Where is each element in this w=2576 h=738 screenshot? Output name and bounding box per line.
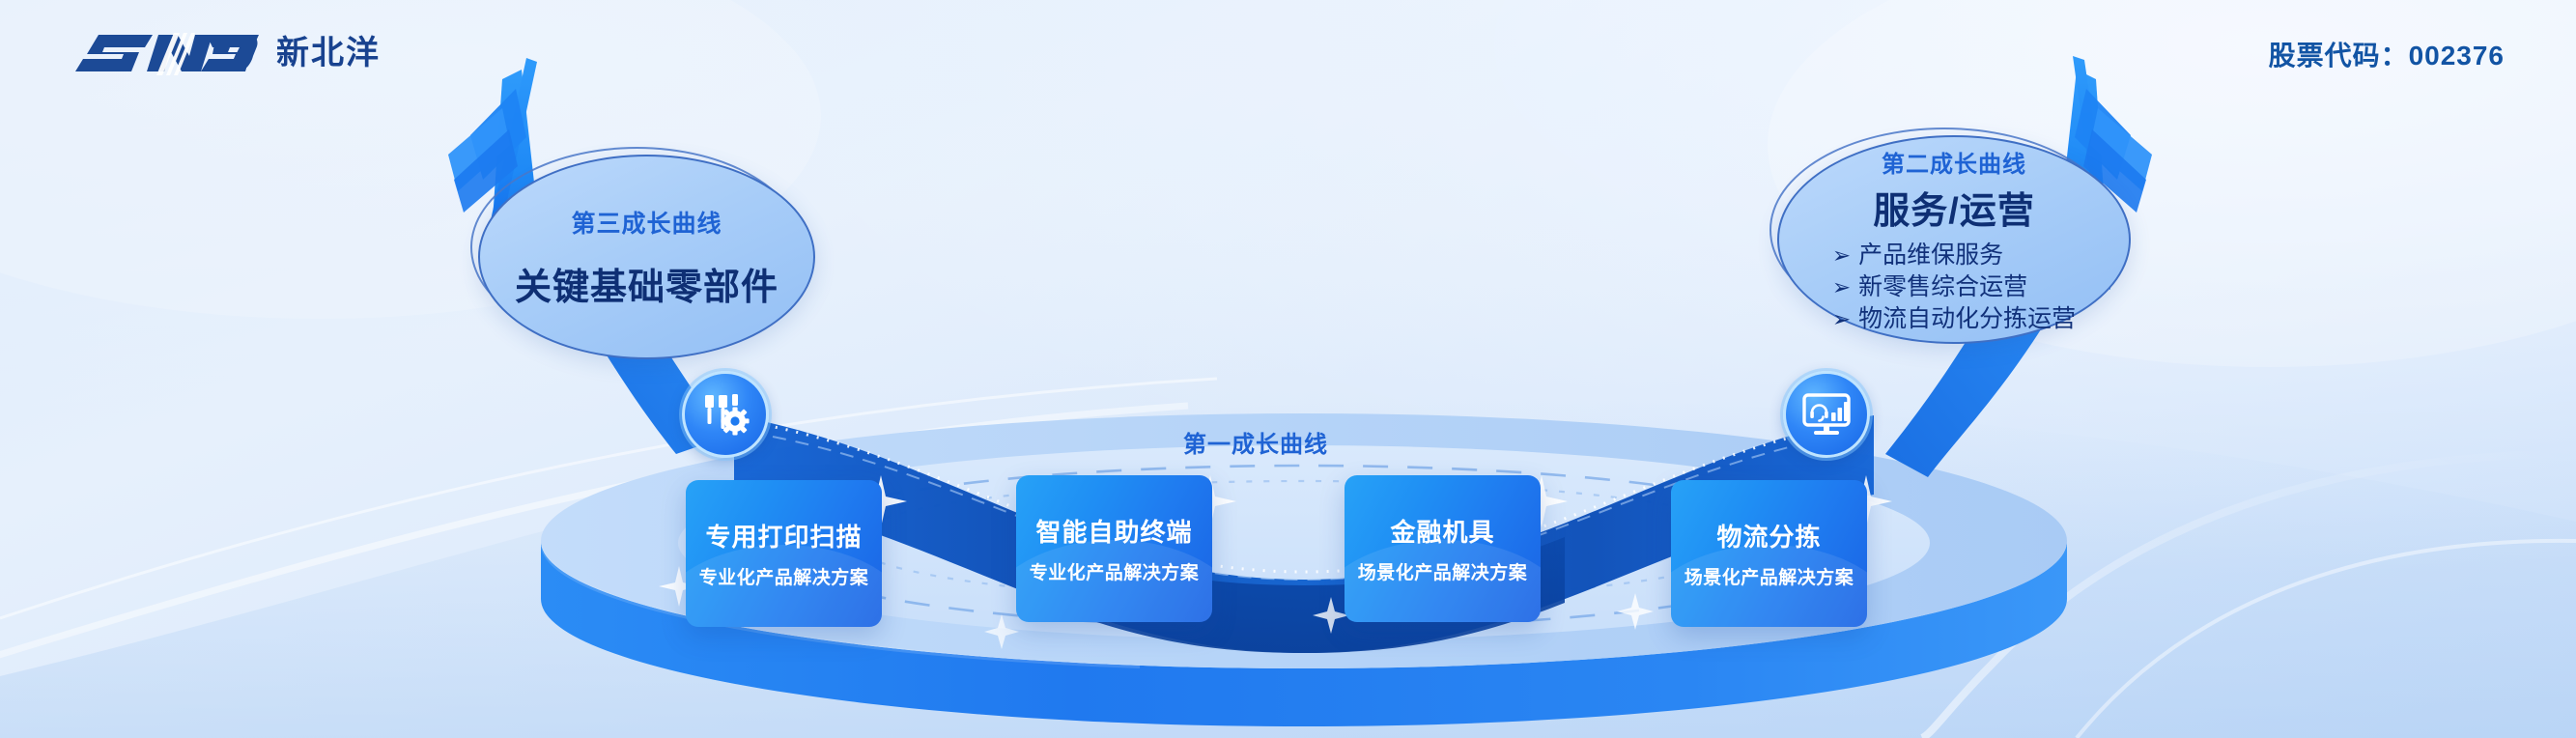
card-subtitle: 专业化产品解决方案 bbox=[699, 563, 869, 589]
monitor-headset-chart-glyph bbox=[1801, 389, 1852, 440]
brand-logo: 新北洋 bbox=[70, 27, 381, 79]
product-card-financial-equipment[interactable]: 金融机具 场景化产品解决方案 bbox=[1345, 475, 1541, 622]
background-decoration bbox=[0, 0, 2576, 738]
monitor-headset-chart-icon[interactable] bbox=[1783, 371, 1870, 458]
sliders-gear-icon[interactable] bbox=[682, 371, 769, 458]
third-curve-bubble[interactable]: 第三成长曲线 关键基础零部件 bbox=[478, 155, 815, 359]
list-item-label: 物流自动化分拣运营 bbox=[1858, 303, 2076, 335]
first-curve-label: 第一成长曲线 bbox=[1183, 425, 1328, 459]
arrow-right-icon: ➢ bbox=[1832, 308, 1851, 330]
second-curve-bullet-list: ➢ 产品维保服务 ➢ 新零售综合运营 ➢ 物流自动化分拣运营 bbox=[1832, 240, 2076, 335]
arrow-right-icon: ➢ bbox=[1832, 244, 1851, 267]
card-title: 智能自助终端 bbox=[1035, 513, 1192, 549]
card-subtitle: 场景化产品解决方案 bbox=[1358, 558, 1528, 584]
sliders-gear-glyph bbox=[700, 389, 750, 440]
list-item-label: 产品维保服务 bbox=[1858, 240, 2003, 271]
third-curve-headline: 关键基础零部件 bbox=[515, 257, 778, 310]
card-subtitle: 专业化产品解决方案 bbox=[1030, 558, 1200, 584]
growth-curve-artwork bbox=[0, 0, 2576, 738]
card-title: 专用打印扫描 bbox=[705, 518, 862, 553]
arrow-right-icon: ➢ bbox=[1832, 276, 1851, 298]
brand-name-cn: 新北洋 bbox=[276, 37, 381, 70]
product-card-logistics-sorting[interactable]: 物流分拣 场景化产品解决方案 bbox=[1671, 480, 1867, 627]
third-curve-eyebrow: 第三成长曲线 bbox=[571, 205, 722, 240]
second-curve-eyebrow: 第二成长曲线 bbox=[1882, 145, 2026, 179]
second-curve-headline: 服务/运营 bbox=[1873, 181, 2035, 234]
infographic-canvas: 新北洋 股票代码：002376 第三成长曲线 关键基础零部件 第二成长曲线 服务… bbox=[0, 0, 2576, 738]
list-item: ➢ 新零售综合运营 bbox=[1832, 271, 2076, 303]
snbc-wordmark-icon bbox=[70, 27, 263, 79]
second-curve-bubble[interactable]: 第二成长曲线 服务/运营 ➢ 产品维保服务 ➢ 新零售综合运营 ➢ 物流自动化分… bbox=[1777, 135, 2131, 344]
card-title: 物流分拣 bbox=[1716, 518, 1821, 553]
product-card-self-service-terminal[interactable]: 智能自助终端 专业化产品解决方案 bbox=[1016, 475, 1212, 622]
list-item-label: 新零售综合运营 bbox=[1858, 271, 2027, 303]
stock-code-label: 股票代码：002376 bbox=[2269, 35, 2505, 73]
list-item: ➢ 产品维保服务 bbox=[1832, 240, 2076, 271]
list-item: ➢ 物流自动化分拣运营 bbox=[1832, 303, 2076, 335]
card-title: 金融机具 bbox=[1390, 513, 1494, 549]
product-card-printing-scanning[interactable]: 专用打印扫描 专业化产品解决方案 bbox=[686, 480, 882, 627]
card-subtitle: 场景化产品解决方案 bbox=[1684, 563, 1854, 589]
